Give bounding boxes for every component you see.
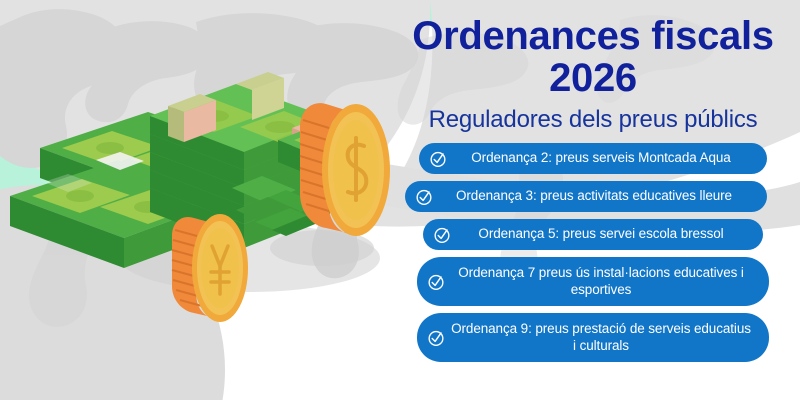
- page-title-line-2: 2026: [393, 58, 793, 100]
- list-item[interactable]: Ordenança 9: preus prestació de serveis …: [417, 313, 769, 362]
- poster-canvas: Ordenances fiscals 2026 Reguladores dels…: [0, 0, 800, 400]
- list-item-label: Ordenança 3: preus activitats educatives…: [439, 188, 753, 205]
- list-item[interactable]: Ordenança 7 preus ús instal·lacions educ…: [417, 257, 769, 306]
- list-item-label: Ordenança 9: preus prestació de serveis …: [451, 321, 755, 355]
- check-circle-icon: [415, 188, 433, 206]
- list-item-label: Ordenança 7 preus ús instal·lacions educ…: [451, 265, 755, 299]
- page-title: Ordenances fiscals 2026: [393, 16, 793, 99]
- list-item[interactable]: Ordenança 5: preus servei escola bressol: [423, 219, 763, 250]
- check-circle-icon: [427, 329, 445, 347]
- list-item-label: Ordenança 5: preus servei escola bressol: [457, 226, 749, 243]
- check-circle-icon: [427, 273, 445, 291]
- content-column: Ordenances fiscals 2026 Reguladores dels…: [386, 0, 800, 400]
- gold-coin-dollar: [300, 103, 390, 236]
- check-circle-icon: [433, 226, 451, 244]
- list-item[interactable]: Ordenança 3: preus activitats educatives…: [405, 181, 767, 212]
- check-circle-icon: [429, 150, 447, 168]
- ordinance-list: Ordenança 2: preus serveis Montcada Aqua…: [386, 143, 800, 369]
- list-item[interactable]: Ordenança 2: preus serveis Montcada Aqua: [419, 143, 767, 174]
- page-subtitle: Reguladores dels preus públics: [393, 106, 793, 134]
- list-item-label: Ordenança 2: preus serveis Montcada Aqua: [453, 150, 753, 167]
- gold-coin-yen: [172, 214, 248, 322]
- page-title-line-1: Ordenances fiscals: [412, 14, 773, 58]
